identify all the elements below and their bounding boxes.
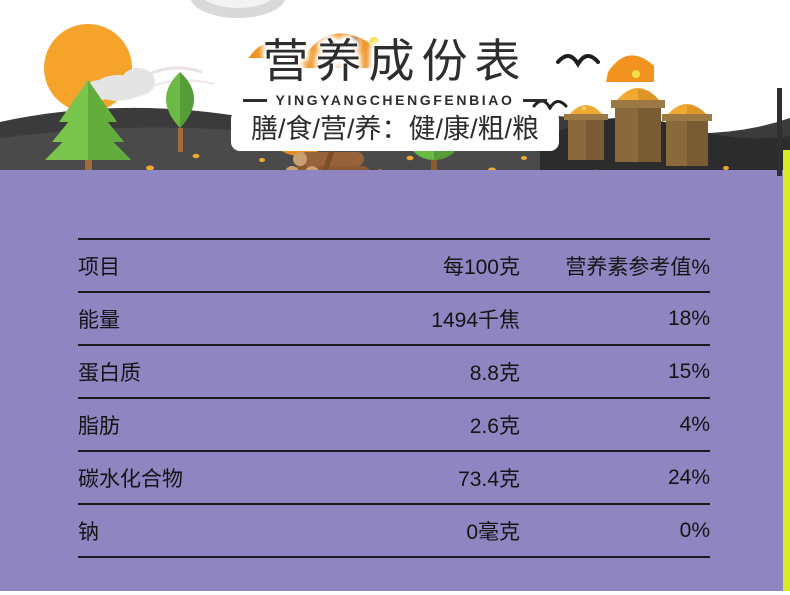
row-per-100g: 2.6克 [313, 398, 520, 451]
row-label: 脂肪 [78, 398, 313, 451]
grain-silo-icon [564, 105, 608, 160]
row-per-100g: 1494千焦 [313, 292, 520, 345]
bread-icon [248, 33, 388, 68]
plate-icon [190, 0, 286, 18]
nutrition-label-page: 营养成份表 YINGYANGCHENGFENBIAO 膳/食/营/养：健/康/粗… [0, 0, 790, 595]
column-header-per-100g: 每100克 [313, 239, 520, 292]
row-per-100g: 0毫克 [313, 504, 520, 557]
grain-silo-icon [662, 104, 712, 166]
row-label: 能量 [78, 292, 313, 345]
column-header-item: 项目 [78, 239, 313, 292]
bread-icon [606, 55, 654, 82]
row-nrv: 18% [520, 292, 710, 345]
row-nrv: 4% [520, 398, 710, 451]
right-edge-accent-strip [783, 150, 790, 595]
row-label: 蛋白质 [78, 345, 313, 398]
row-per-100g: 73.4克 [313, 451, 520, 504]
row-nrv: 24% [520, 451, 710, 504]
table-row: 钠 0毫克 0% [78, 504, 710, 557]
cloud-wisp-icon [146, 68, 202, 76]
table-row: 蛋白质 8.8克 15% [78, 345, 710, 398]
grain-silo-icon [611, 88, 665, 162]
row-per-100g: 8.8克 [313, 345, 520, 398]
row-label: 钠 [78, 504, 313, 557]
table-row: 碳水化合物 73.4克 24% [78, 451, 710, 504]
row-nrv: 0% [520, 504, 710, 557]
nutrition-facts-table: 项目 每100克 营养素参考值% 能量 1494千焦 18% 蛋白质 8.8克 … [78, 238, 710, 558]
column-header-nrv: 营养素参考值% [520, 239, 710, 292]
table-header-row: 项目 每100克 营养素参考值% [78, 239, 710, 292]
row-label: 碳水化合物 [78, 451, 313, 504]
table-row: 脂肪 2.6克 4% [78, 398, 710, 451]
bird-icon [558, 56, 598, 64]
bird-icon [534, 101, 566, 108]
table-row: 能量 1494千焦 18% [78, 292, 710, 345]
row-nrv: 15% [520, 345, 710, 398]
fence-post-shape [777, 88, 782, 176]
bottom-white-strip [0, 591, 790, 595]
header-illustration [0, 0, 790, 190]
